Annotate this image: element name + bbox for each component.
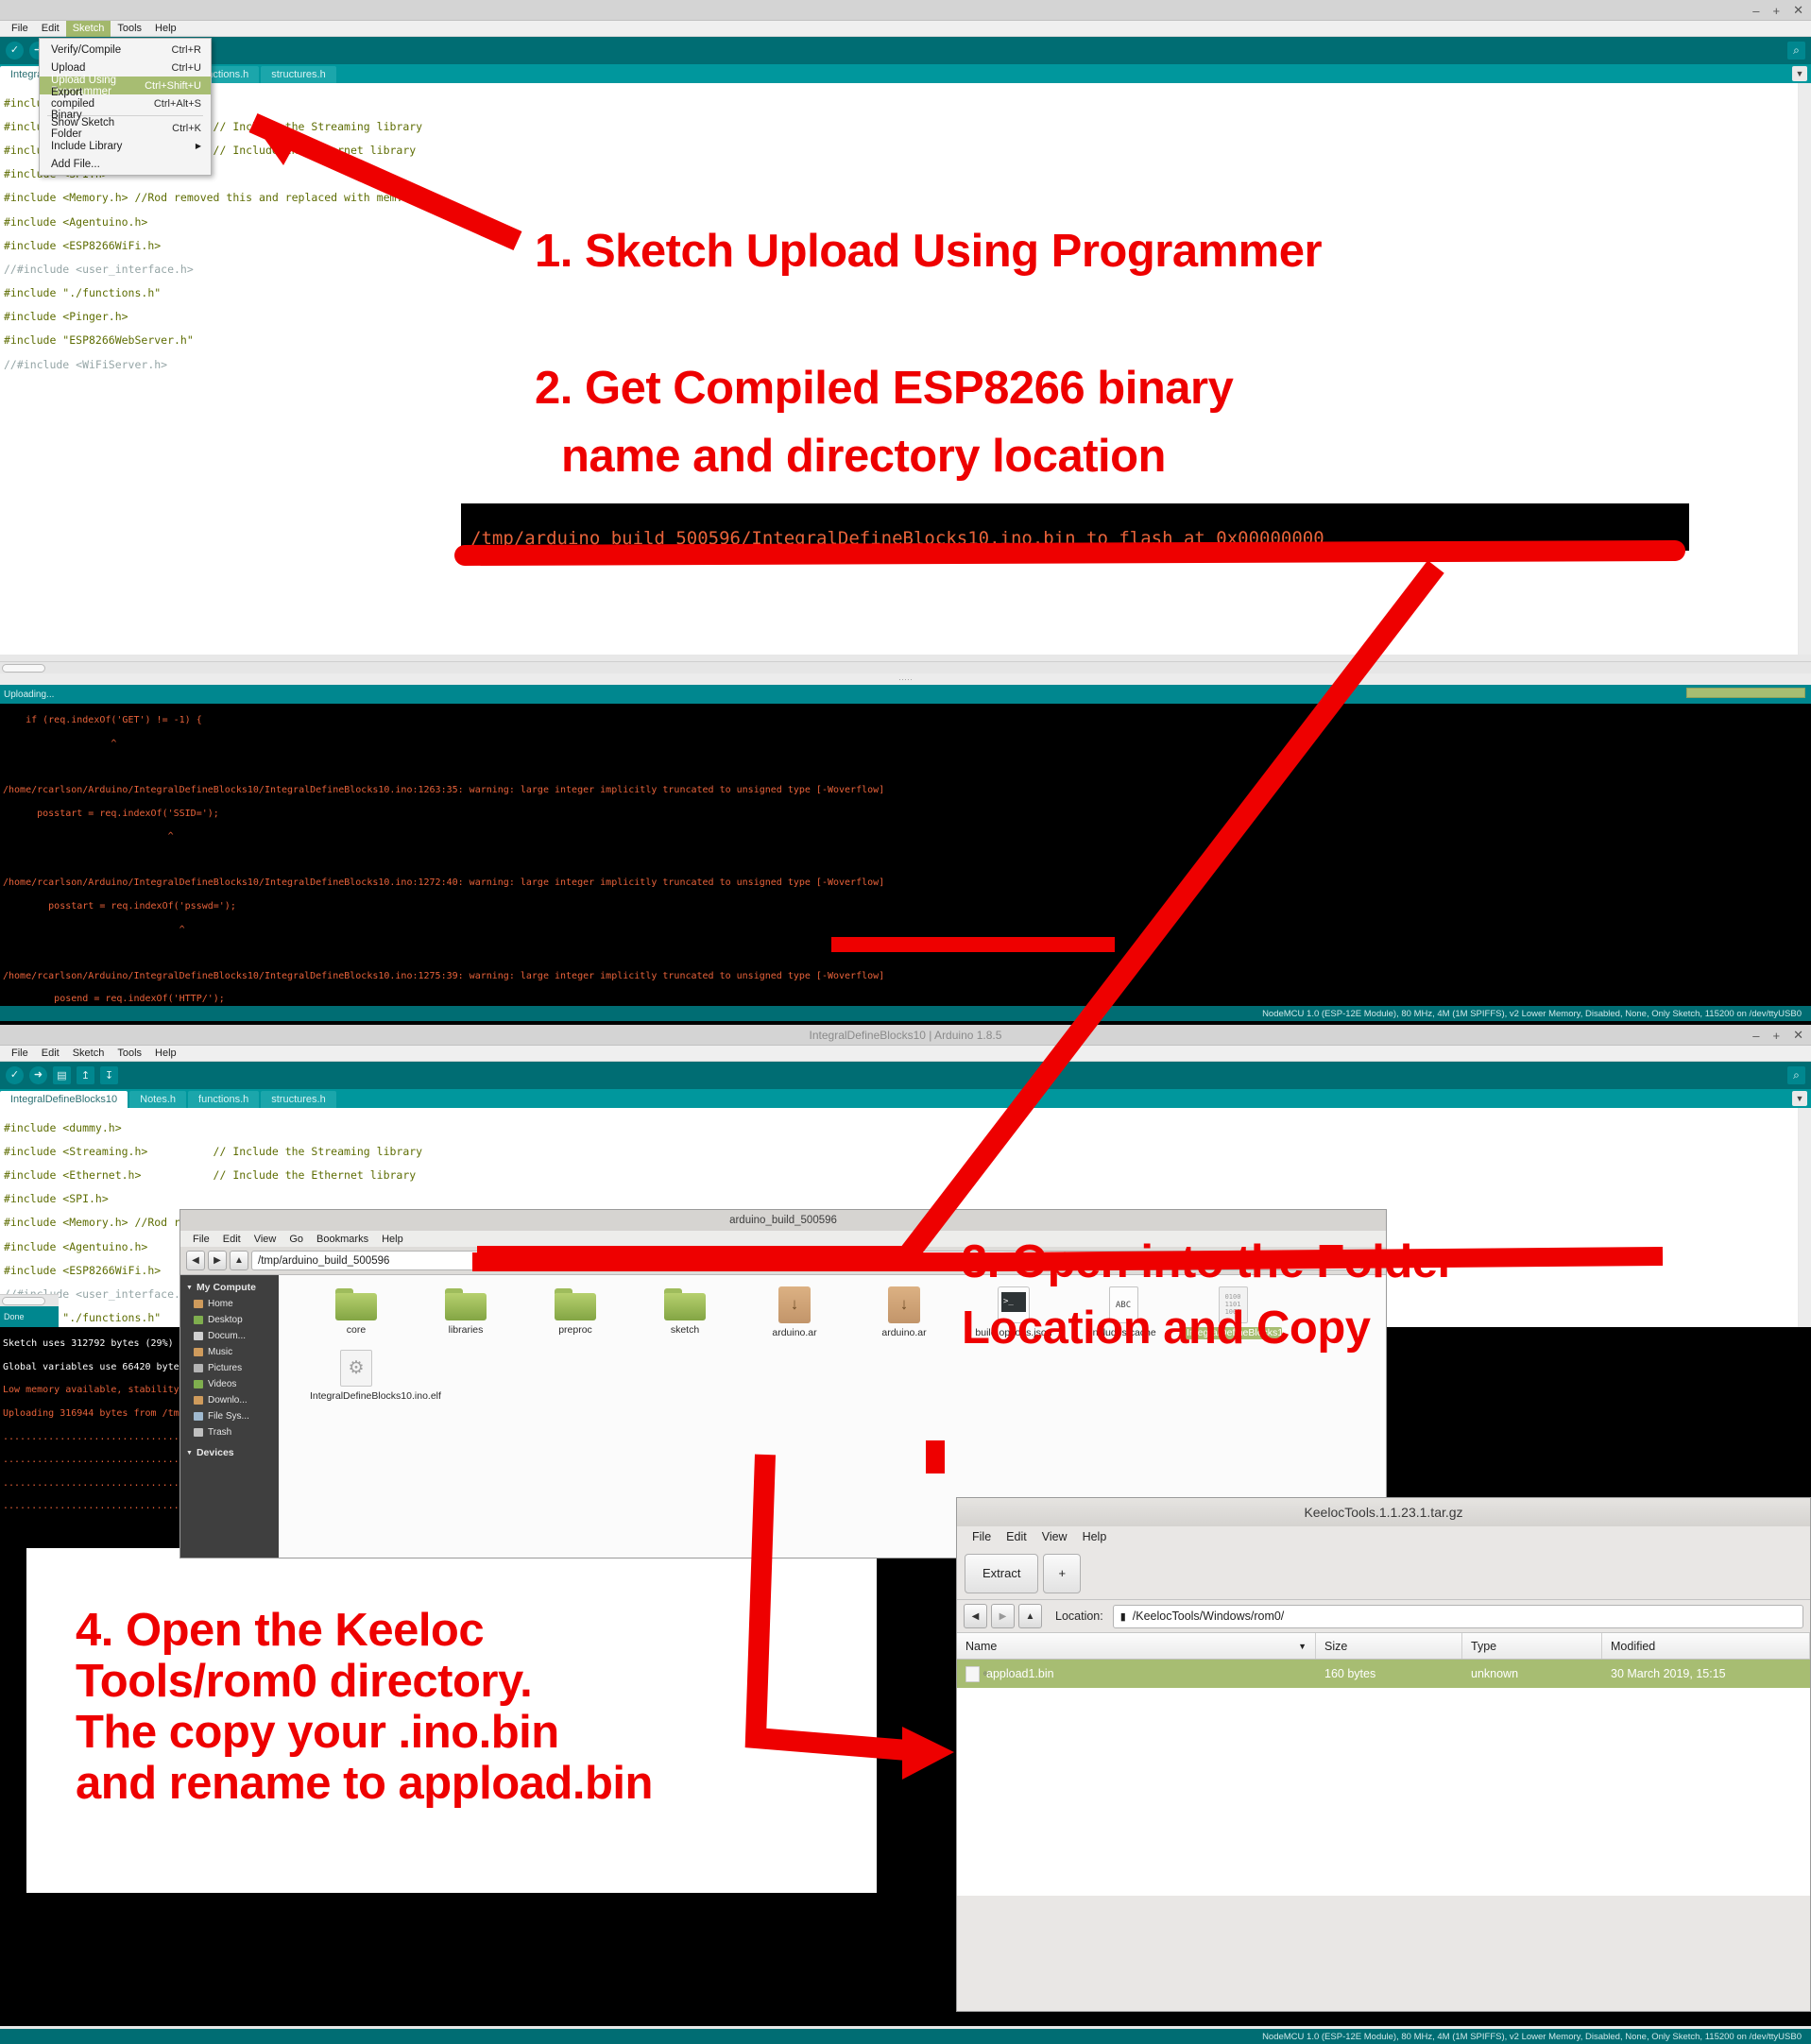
music-icon [194, 1348, 203, 1356]
file-manager-titlebar: arduino_build_500596 [180, 1210, 1386, 1231]
console-line: if (req.indexOf('GET') != -1) { [3, 715, 202, 725]
top-tabbar: IntegralDefineBlocks10 Notes.h functions… [0, 64, 1811, 83]
annotation-step-3-line1: 3. Open into the Folder [962, 1237, 1455, 1286]
sidebar-item-label: Pictures [208, 1363, 242, 1373]
fm-menu-go[interactable]: Go [282, 1234, 310, 1245]
bottom-editor-hscrollbar[interactable] [0, 1294, 59, 1306]
videos-icon [194, 1380, 203, 1388]
sketch-dropdown-menu[interactable]: Verify/Compile Ctrl+R Upload Ctrl+U Uplo… [39, 38, 212, 176]
verify-icon[interactable]: ✓ [6, 1066, 24, 1084]
column-label: Size [1324, 1640, 1347, 1653]
file-label: arduino.ar [769, 1327, 819, 1339]
menu-file[interactable]: File [5, 21, 35, 37]
tab-functions-h[interactable]: functions.h [188, 1091, 259, 1108]
top-board-status: NodeMCU 1.0 (ESP-12E Module), 80 MHz, 4M… [0, 1006, 1811, 1021]
sidebar-item-label: Desktop [208, 1315, 243, 1325]
fm-menu-help[interactable]: Help [375, 1234, 410, 1245]
file-label: IntegralDefineBlocks10.ino.elf [307, 1390, 405, 1403]
sidebar-item-label: Downlo... [208, 1395, 248, 1405]
downloads-icon [194, 1396, 203, 1405]
console-line: /home/rcarlson/Arduino/IntegralDefineBlo… [3, 877, 884, 888]
verify-icon[interactable]: ✓ [6, 42, 24, 60]
annotation-step-3-line2: Location and Copy [962, 1303, 1371, 1353]
sidebar-item-label: Music [208, 1347, 232, 1357]
menuitem-accelerator: Ctrl+Alt+S [126, 98, 201, 110]
archive-menubar: File Edit View Help [957, 1526, 1810, 1547]
archive-folder-icon: ▮ [1120, 1610, 1126, 1623]
menuitem-show-sketch-folder[interactable]: Show Sketch Folder Ctrl+K [40, 119, 211, 137]
code-line: #include <ESP8266WiFi.h> [4, 239, 161, 252]
sidebar-item-label: Videos [208, 1379, 236, 1389]
menuitem-include-library[interactable]: Include Library ▶ [40, 137, 211, 155]
code-line: #include "ESP8266WebServer.h" [4, 333, 194, 347]
bottom-status-strip: Done [0, 1306, 59, 1327]
menu-help[interactable]: Help [148, 1046, 183, 1062]
annotation-step-1: 1. Sketch Upload Using Programmer [535, 227, 1322, 276]
elf-file-icon [340, 1350, 372, 1387]
save-sketch-icon[interactable]: ↧ [100, 1066, 118, 1084]
fm-menu-edit[interactable]: Edit [216, 1234, 248, 1245]
minimize-icon[interactable]: – [1752, 4, 1759, 18]
serial-monitor-icon[interactable]: ⌕ [1787, 42, 1805, 60]
menuitem-accelerator: Ctrl+U [144, 62, 201, 74]
code-line: #include <Streaming.h> // Include the St… [4, 1145, 422, 1158]
console-line: ^ [3, 831, 174, 842]
window-title: IntegralDefineBlocks10 | Arduino 1.8.5 [810, 1029, 1002, 1042]
code-line: #include <Agentuino.h> [4, 215, 147, 229]
code-line: #include <Pinger.h> [4, 310, 128, 323]
bottom-window-titlebar: IntegralDefineBlocks10 | Arduino 1.8.5 –… [0, 1025, 1811, 1046]
file-item-preproc[interactable]: preproc [521, 1286, 630, 1340]
status-text: Uploading... [4, 690, 54, 700]
file-label: arduino.ar [879, 1327, 929, 1339]
console-line: posend = req.indexOf('HTTP/'); [3, 994, 225, 1004]
home-icon [194, 1300, 203, 1308]
file-label: sketch [668, 1324, 702, 1337]
serial-monitor-icon[interactable]: ⌕ [1787, 1066, 1805, 1084]
am-menu-help[interactable]: Help [1075, 1530, 1115, 1543]
highlight-banner: /tmp/arduino_build_500596/IntegralDefine… [461, 503, 1689, 551]
annotation-step-2-line2: name and directory location [561, 432, 1166, 481]
back-icon[interactable]: ◀ [186, 1251, 205, 1270]
tab-overflow-chevron-icon[interactable]: ▼ [1792, 66, 1807, 81]
location-input[interactable]: ▮ /KeelocTools/Windows/rom0/ [1113, 1605, 1803, 1628]
sidebar-item-label: Trash [208, 1427, 231, 1438]
top-menubar: File Edit Sketch Tools Help [0, 21, 1811, 37]
folder-icon [664, 1286, 706, 1320]
chevron-down-icon: ▼ [186, 1285, 193, 1291]
bottom-menubar: File Edit Sketch Tools Help [0, 1046, 1811, 1062]
row-modified: 30 March 2019, 15:15 [1611, 1667, 1726, 1680]
trash-icon [194, 1428, 203, 1437]
open-sketch-icon[interactable]: ↥ [77, 1066, 94, 1084]
documents-icon [194, 1332, 203, 1340]
back-icon[interactable]: ◀ [964, 1604, 987, 1628]
menu-sketch[interactable]: Sketch [66, 1046, 111, 1062]
archive-filelist[interactable]: 01 10 appload1.bin 160 bytes unknown 30 … [957, 1660, 1810, 1896]
binary-file-icon: 01 10 [965, 1666, 980, 1682]
table-row[interactable]: 01 10 appload1.bin 160 bytes unknown 30 … [957, 1660, 1810, 1688]
code-line: #include <Agentuino.h> [4, 1240, 147, 1253]
code-line: #include <Memory.h> //Rod removed this a… [4, 191, 409, 204]
sidebar-item-label: Home [208, 1299, 233, 1309]
file-item-libraries[interactable]: libraries [411, 1286, 521, 1340]
row-type: unknown [1471, 1667, 1518, 1680]
window-controls: – + ✕ [1752, 0, 1803, 21]
sort-desc-icon: ▼ [1298, 1642, 1315, 1651]
menuitem-label: Upload [51, 62, 85, 74]
file-label: core [344, 1324, 368, 1337]
code-line: #include <dummy.h> [4, 1121, 122, 1134]
menu-edit[interactable]: Edit [35, 1046, 66, 1062]
code-line: //#include <WiFiServer.h> [4, 358, 167, 371]
folder-icon [555, 1286, 596, 1320]
sidebar-group-my-computer[interactable]: ▼ My Compute [180, 1279, 279, 1296]
forward-icon[interactable]: ▶ [991, 1604, 1015, 1628]
status-text: Done [4, 1312, 25, 1321]
tab-notes-h[interactable]: Notes.h [129, 1091, 186, 1108]
archive-locationbar: ◀ ▶ ▲ Location: ▮ /KeelocTools/Windows/r… [957, 1600, 1810, 1632]
board-status-text: NodeMCU 1.0 (ESP-12E Module), 80 MHz, 4M… [1262, 1009, 1802, 1019]
console-line: ^ [3, 925, 185, 935]
new-sketch-icon[interactable]: ▤ [53, 1066, 71, 1084]
sidebar-item-trash[interactable]: Trash [180, 1424, 279, 1440]
menu-tools[interactable]: Tools [111, 21, 148, 37]
file-item-sketch[interactable]: sketch [630, 1286, 740, 1340]
pictures-icon [194, 1364, 203, 1372]
upload-icon[interactable]: ➜ [29, 1066, 47, 1084]
location-value: /KeelocTools/Windows/rom0/ [1133, 1610, 1284, 1623]
up-icon[interactable]: ▲ [1018, 1604, 1042, 1628]
tab-structures-h[interactable]: structures.h [261, 1091, 335, 1108]
sidebar-item-music[interactable]: Music [180, 1344, 279, 1360]
file-item-arduino-ar-top[interactable]: arduino.ar [740, 1286, 849, 1340]
sidebar-item-pictures[interactable]: Pictures [180, 1360, 279, 1376]
menuitem-export-compiled-binary[interactable]: Export compiled Binary Ctrl+Alt+S [40, 94, 211, 112]
close-icon[interactable]: ✕ [1793, 3, 1803, 18]
code-line: #include "./functions.h" [4, 286, 161, 299]
file-item-arduino-ar[interactable]: arduino.ar [849, 1286, 959, 1340]
column-label: Modified [1611, 1640, 1655, 1653]
archive-column-headers: Name ▼ Size Type Modified [957, 1632, 1810, 1660]
desktop-icon [194, 1316, 203, 1324]
menuitem-accelerator: Ctrl+K [144, 123, 201, 134]
am-menu-edit[interactable]: Edit [999, 1530, 1034, 1543]
sidebar-item-file-system[interactable]: File Sys... [180, 1408, 279, 1424]
console-line: ^ [3, 739, 116, 749]
annotation-step-4: 4. Open the Keeloc Tools/rom0 directory.… [76, 1606, 653, 1810]
folder-icon [335, 1286, 377, 1320]
am-menu-view[interactable]: View [1034, 1530, 1075, 1543]
menuitem-accelerator: Ctrl+Shift+U [116, 80, 201, 92]
maximize-icon[interactable]: + [1773, 4, 1781, 18]
column-type[interactable]: Type [1462, 1633, 1602, 1659]
sidebar-item-documents[interactable]: Docum... [180, 1328, 279, 1344]
extract-button[interactable]: Extract [965, 1554, 1038, 1593]
forward-icon[interactable]: ▶ [208, 1251, 227, 1270]
menuitem-add-file[interactable]: Add File... [40, 155, 211, 173]
menuitem-label: Add File... [51, 159, 100, 170]
sidebar-item-desktop[interactable]: Desktop [180, 1312, 279, 1328]
menuitem-label: Show Sketch Folder [51, 117, 144, 140]
code-line: #include <Ethernet.h> // Include the Eth… [4, 1168, 416, 1182]
menuitem-label: Export compiled Binary [51, 87, 126, 121]
add-files-button[interactable]: + [1043, 1554, 1081, 1593]
archive-icon [888, 1286, 920, 1323]
top-editor-scrollbar[interactable] [1799, 83, 1811, 655]
board-status-text: NodeMCU 1.0 (ESP-12E Module), 80 MHz, 4M… [1262, 2032, 1802, 2042]
window-controls: – + ✕ [1752, 1025, 1803, 1046]
archive-icon [778, 1286, 811, 1323]
sidebar-item-label: File Sys... [208, 1411, 249, 1422]
file-manager-sidebar: ▼ My Compute Home Desktop Docum... Music… [180, 1275, 279, 1558]
tab-integraldefineblocks10[interactable]: IntegralDefineBlocks10 [0, 1091, 128, 1108]
console-line: posstart = req.indexOf('SSID='); [3, 809, 219, 819]
annotation-step-2-line1: 2. Get Compiled ESP8266 binary [535, 364, 1233, 413]
menuitem-verify-compile[interactable]: Verify/Compile Ctrl+R [40, 41, 211, 59]
path-value: /tmp/arduino_build_500596 [258, 1255, 389, 1267]
bottom-tabbar: IntegralDefineBlocks10 Notes.h functions… [0, 1089, 1811, 1108]
binary-icon-row: 0100 [1220, 1293, 1247, 1301]
archive-toolbar: Extract + [957, 1547, 1810, 1600]
close-icon[interactable]: ✕ [1793, 1028, 1803, 1043]
location-label: Location: [1055, 1610, 1103, 1623]
column-label: Type [1471, 1640, 1496, 1653]
archive-manager-window: KeelocTools.1.1.23.1.tar.gz File Edit Vi… [956, 1497, 1811, 2012]
code-line: #include <SPI.h> [4, 1192, 109, 1205]
chevron-down-icon: ▼ [186, 1450, 193, 1456]
top-editor-hscrollbar[interactable] [0, 661, 1811, 673]
hscroll-thumb[interactable] [2, 664, 45, 673]
splitter-handle[interactable]: ····· [0, 673, 1811, 685]
sidebar-group-devices[interactable]: ▼ Devices [180, 1444, 279, 1461]
tab-overflow-chevron-icon[interactable]: ▼ [1792, 1091, 1807, 1106]
menuitem-label: Include Library [51, 141, 122, 152]
menu-tools[interactable]: Tools [111, 1046, 148, 1062]
sidebar-group-label: Devices [196, 1447, 234, 1458]
file-system-icon [194, 1412, 203, 1421]
menu-file[interactable]: File [5, 1046, 35, 1062]
menu-help[interactable]: Help [148, 21, 183, 37]
row-name: appload1.bin [986, 1667, 1054, 1680]
top-window-titlebar: – + ✕ [0, 0, 1811, 21]
row-size: 160 bytes [1324, 1667, 1375, 1680]
column-modified[interactable]: Modified [1602, 1633, 1810, 1659]
console-line: /home/rcarlson/Arduino/IntegralDefineBlo… [3, 785, 884, 795]
column-label: Name [965, 1640, 997, 1653]
folder-icon [445, 1286, 487, 1320]
sidebar-item-home[interactable]: Home [180, 1296, 279, 1312]
console-line: posstart = req.indexOf('psswd='); [3, 901, 236, 911]
sidebar-item-label: Docum... [208, 1331, 246, 1341]
chevron-right-icon: ▶ [196, 142, 201, 150]
fm-menu-bookmarks[interactable]: Bookmarks [310, 1234, 375, 1245]
bottom-board-status: NodeMCU 1.0 (ESP-12E Module), 80 MHz, 4M… [0, 2029, 1811, 2044]
column-size[interactable]: Size [1316, 1633, 1462, 1659]
file-manager-title: arduino_build_500596 [729, 1215, 837, 1226]
menu-sketch[interactable]: Sketch [66, 21, 111, 37]
sidebar-group-label: My Compute [196, 1282, 256, 1293]
file-label: preproc [555, 1324, 595, 1337]
fm-menu-view[interactable]: View [248, 1234, 283, 1245]
am-menu-file[interactable]: File [965, 1530, 999, 1543]
minimize-icon[interactable]: – [1752, 1029, 1759, 1043]
code-line: //#include <user_interface.h> [4, 263, 194, 276]
file-label: libraries [446, 1324, 487, 1337]
top-status-strip: Uploading... [0, 685, 1811, 704]
sidebar-item-downloads[interactable]: Downlo... [180, 1392, 279, 1408]
bottom-toolbar: ✓ ➜ ▤ ↥ ↧ ⌕ [0, 1062, 1811, 1089]
banner-line-1: /tmp/arduino_build_500596/IntegralDefine… [470, 528, 1324, 549]
tab-structures-h[interactable]: structures.h [261, 66, 335, 83]
console-line: /home/rcarlson/Arduino/IntegralDefineBlo… [3, 971, 884, 981]
column-name[interactable]: Name ▼ [957, 1633, 1316, 1659]
file-item-ino-elf[interactable]: IntegralDefineBlocks10.ino.elf [301, 1350, 411, 1404]
code-line: #include <ESP8266WiFi.h> [4, 1264, 161, 1277]
top-toolbar: ✓ ➜ ▤ ↥ ↧ ⌕ [0, 37, 1811, 64]
fm-menu-file[interactable]: File [186, 1234, 216, 1245]
sidebar-item-videos[interactable]: Videos [180, 1376, 279, 1392]
archive-titlebar: KeelocTools.1.1.23.1.tar.gz [957, 1498, 1810, 1526]
hscroll-thumb[interactable] [2, 1297, 45, 1305]
archive-title: KeelocTools.1.1.23.1.tar.gz [1304, 1505, 1462, 1520]
upload-progressbar [1686, 688, 1805, 698]
maximize-icon[interactable]: + [1773, 1029, 1781, 1043]
menuitem-accelerator: Ctrl+R [144, 44, 201, 56]
up-icon[interactable]: ▲ [230, 1251, 248, 1270]
menu-edit[interactable]: Edit [35, 21, 66, 37]
file-item-core[interactable]: core [301, 1286, 411, 1340]
menuitem-label: Verify/Compile [51, 44, 121, 56]
